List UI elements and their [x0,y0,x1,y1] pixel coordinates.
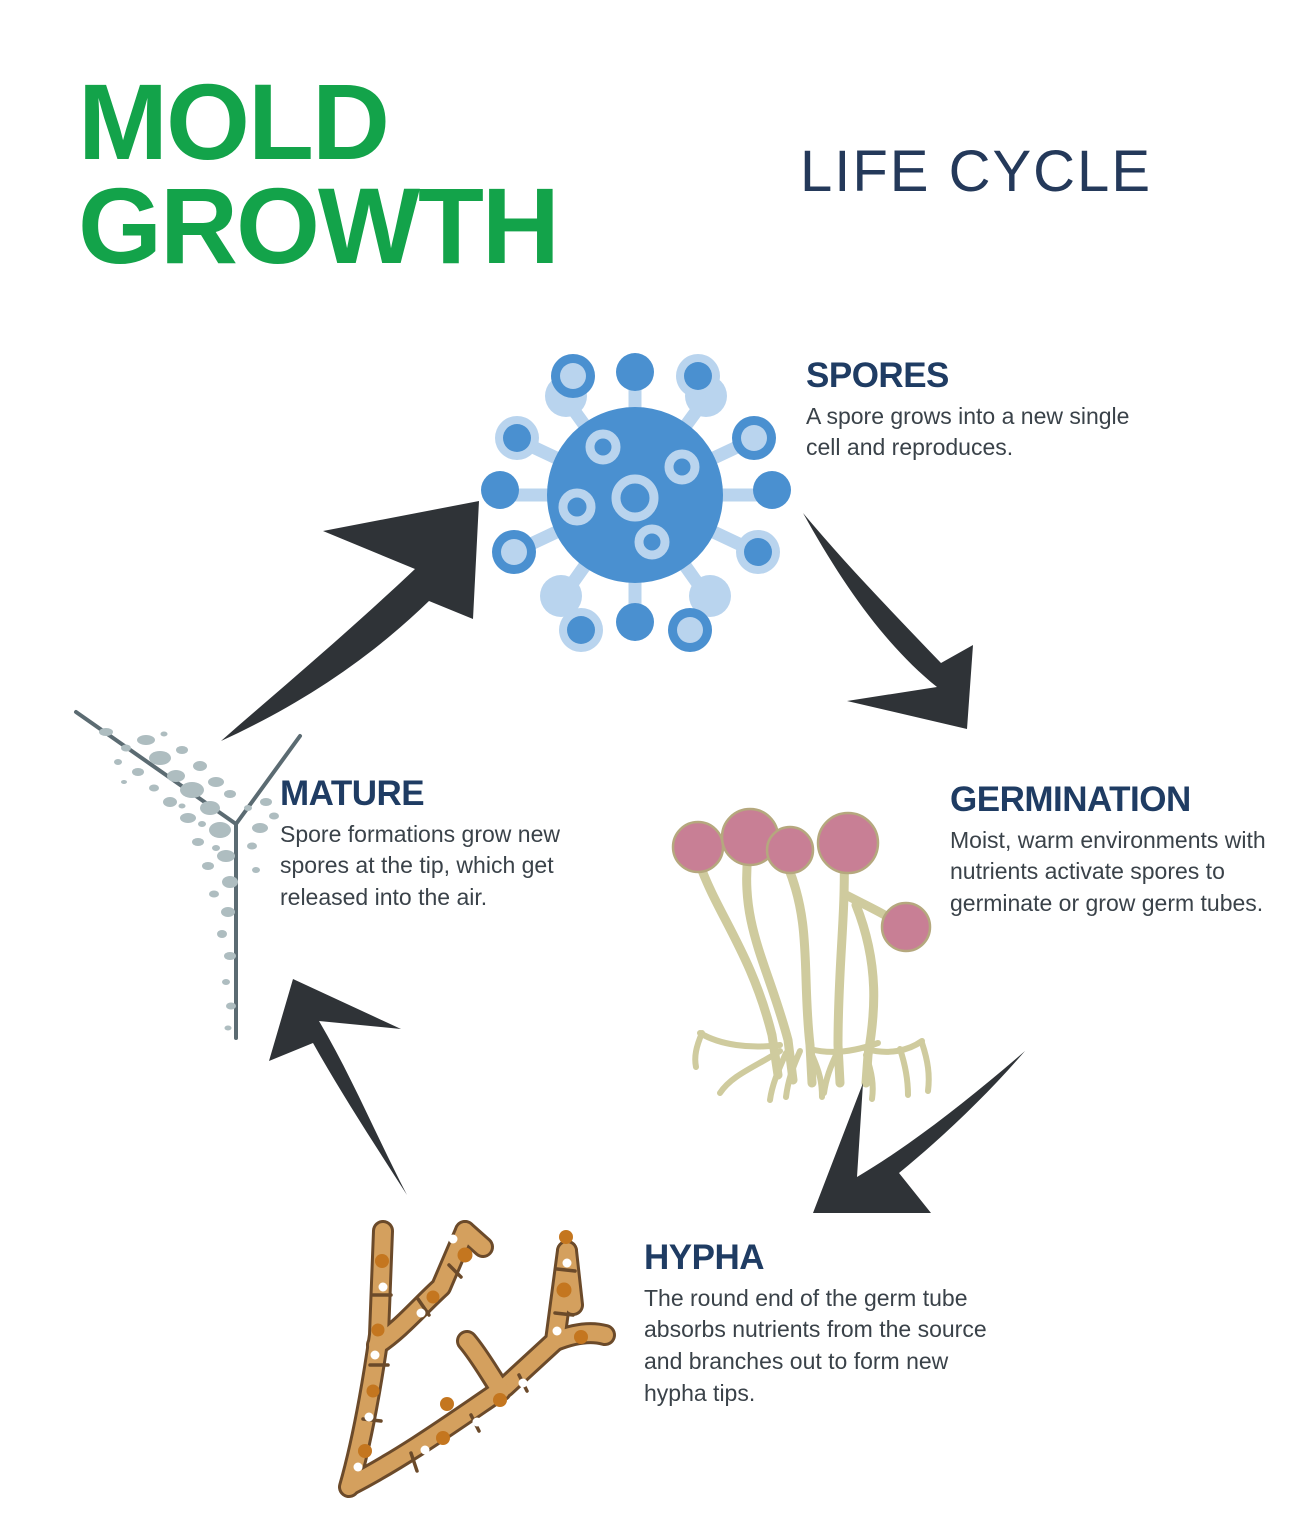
arrow-spores-to-germination-icon [785,505,1025,735]
arrow-germination-to-hypha-icon [795,1045,1035,1235]
infographic-canvas: MOLD GROWTH LIFE CYCLE [0,0,1313,1536]
stage-germination-body-line-1: Moist, warm environments with [950,825,1290,857]
branching-hypha-icon [315,1195,635,1515]
stage-hypha-body: The round end of the germ tube absorbs n… [644,1283,1014,1410]
stage-hypha-body-line-1: The round end of the germ tube [644,1283,1014,1315]
stage-germination: GERMINATION Moist, warm environments wit… [950,782,1290,920]
arrow-mature-to-spores-icon [215,495,505,745]
stage-spores: SPORES A spore grows into a new single c… [806,358,1166,464]
stage-spores-body-line-2: cell and reproduces. [806,432,1166,464]
stage-germination-body: Moist, warm environments with nutrients … [950,825,1290,920]
stage-germination-body-line-3: germinate or grow germ tubes. [950,888,1290,920]
stage-hypha: HYPHA The round end of the germ tube abs… [644,1240,1014,1410]
stage-spores-heading: SPORES [806,358,1166,395]
stage-mature-heading: MATURE [280,776,590,813]
stage-mature: MATURE Spore formations grow new spores … [280,776,590,914]
stage-spores-body-line-1: A spore grows into a new single [806,401,1166,433]
stage-hypha-heading: HYPHA [644,1240,1014,1277]
stage-hypha-body-line-4: hypha tips. [644,1378,1014,1410]
stage-mature-body: Spore formations grow new spores at the … [280,819,590,914]
stage-hypha-body-line-2: absorbs nutrients from the source [644,1314,1014,1346]
spore-cluster-icon [470,330,800,660]
stage-mature-body-line-3: released into the air. [280,882,590,914]
stage-germination-body-line-2: nutrients activate spores to [950,856,1290,888]
page-title: MOLD GROWTH [78,70,698,277]
title-line-1: MOLD [78,70,698,174]
stage-mature-body-line-1: Spore formations grow new [280,819,590,851]
title-line-2: GROWTH [78,174,698,278]
stage-germination-heading: GERMINATION [950,782,1290,819]
arrow-hypha-to-mature-icon [255,965,450,1200]
stage-spores-body: A spore grows into a new single cell and… [806,401,1166,464]
stage-hypha-body-line-3: and branches out to form new [644,1346,1014,1378]
stage-mature-body-line-2: spores at the tip, which get [280,850,590,882]
subtitle-life-cycle: LIFE CYCLE [800,138,1152,205]
